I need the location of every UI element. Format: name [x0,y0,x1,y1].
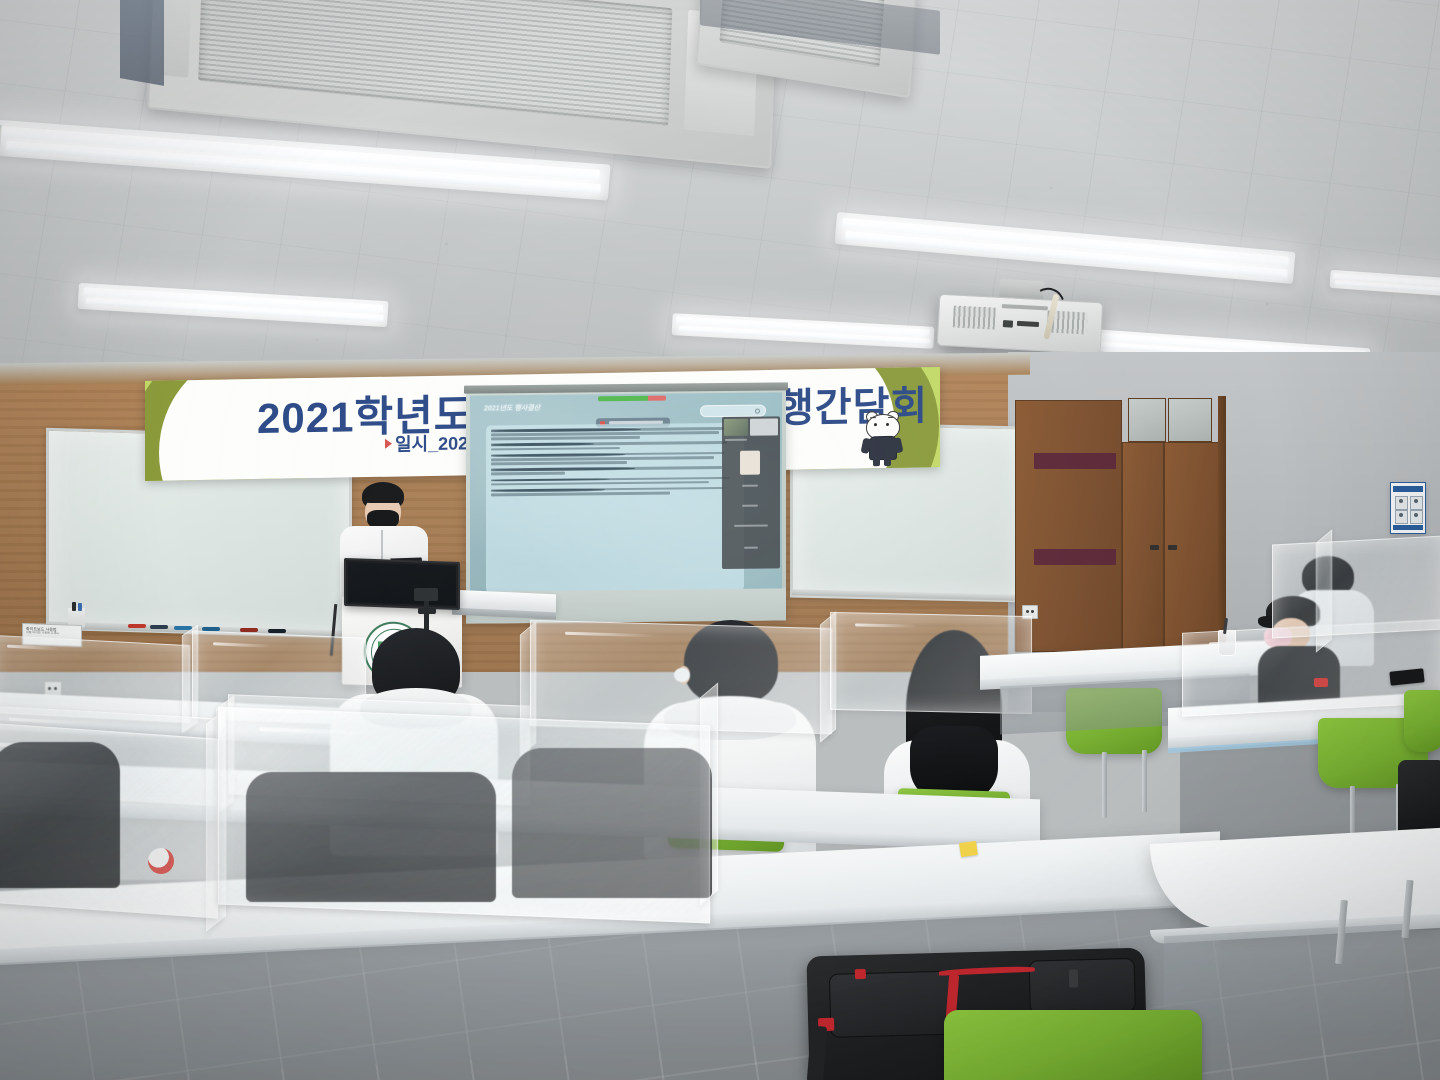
recording-indicator-bar [598,396,666,402]
camera-head [414,588,438,601]
poster-icon-dot [1414,499,1418,503]
backpack-red-buckle [855,969,866,979]
marker [268,629,286,633]
red-desk-item [1314,678,1328,687]
covid-guidance-poster [1390,482,1426,534]
door-handle-left[interactable] [1150,545,1159,550]
sidebar-video-thumb [724,419,748,436]
sidebar-video-thumb-2 [750,418,778,435]
ac-grille [198,0,672,126]
sidebar-item-label [744,547,758,549]
slide-title: 2021년도 행사결산 [484,403,540,414]
monitor-screen [348,562,456,606]
acrylic-divider-foreground-overlay [218,707,710,924]
marker [72,602,76,611]
camera-stand-arm [418,608,436,614]
poster-header-band [1393,486,1423,492]
door-frame-trim [1218,396,1226,652]
ceiling-vent-strip [120,0,164,86]
poster-footer-band [1393,525,1423,530]
door-handle-right[interactable] [1168,545,1177,550]
sidebar-item-label [742,485,758,487]
projected-slide: 2021년도 행사결산 [470,392,782,593]
poster-icon-dot [1399,513,1403,517]
recording-active-chip [598,396,648,402]
backpack-strap [807,1026,827,1080]
yellow-sticky-note [959,841,978,857]
sidebar-row [725,439,747,441]
recording-stop-chip [648,396,666,401]
chair-leg [1142,750,1147,812]
search-input[interactable] [700,405,766,418]
marker [78,603,82,611]
tiger-leg-left [873,457,880,466]
door-accent-stripe [1034,549,1116,565]
slide-paragraph [491,466,739,475]
marker [240,628,258,632]
marker [128,624,146,628]
poster-icon-dot [1399,499,1403,503]
sidebar-avatar [740,451,760,475]
slide-paragraph [491,427,739,441]
tiger-arm-right [893,437,904,453]
chair-green-foreground[interactable] [944,1010,1202,1080]
acrylic-divider [530,620,832,734]
slide-paragraph [491,487,739,496]
meeting-sidebar-panel [722,416,780,569]
sidebar-item-label [734,525,768,527]
tiger-eye-right [886,423,889,426]
red-round-item [148,848,174,874]
drink-cup [1218,630,1236,656]
chair-green[interactable] [1404,690,1440,752]
acrylic-divider-foreground-overlay [0,721,218,918]
projection-screen: 2021년도 행사결산 [466,388,786,623]
sidebar-item-label [742,505,758,507]
podium-monitor [344,558,460,610]
chair-leg [1102,752,1107,818]
tiger-mascot [861,408,909,467]
backpack-side-pocket [1029,958,1136,1015]
search-icon [755,409,760,414]
banner-subtitle: 일시_202 [395,429,468,456]
marker [150,625,168,629]
door-transom-left [1128,398,1166,442]
slide-paragraph [491,476,739,485]
slide-body-card [486,423,744,594]
banner-bullet-arrow [385,439,392,449]
slide-paragraph [491,441,739,450]
acrylic-divider [1272,535,1440,638]
projector-body [937,294,1103,355]
backpack-front-pocket [829,971,953,1038]
backpack-zipper-pull [1069,969,1078,987]
ceiling-projector [928,283,1111,362]
door-transom-right [1168,398,1212,442]
classroom-photo: 화이트보드 사용법 지정 마커만 사용해 주세요 2021학년도 일시_202 … [0,0,1440,1080]
slide-paragraph [491,452,739,466]
door-accent-stripe [1034,453,1116,469]
tiger-leg-right [884,457,891,466]
ac-vane [160,0,192,78]
poster-icon-dot [1414,513,1418,517]
presenter-hair-fringe [363,490,403,503]
